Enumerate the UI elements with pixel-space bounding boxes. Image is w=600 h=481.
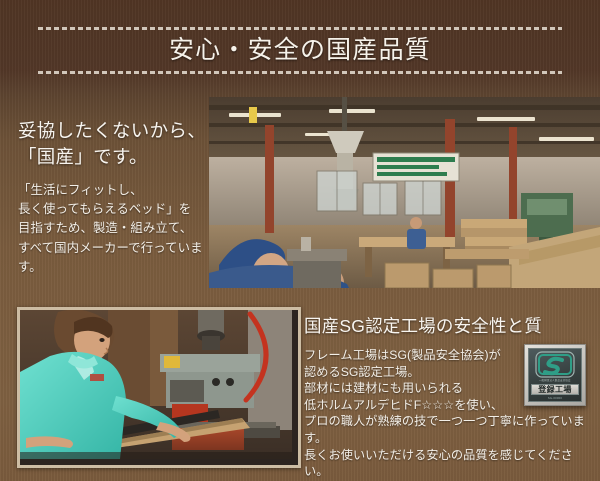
left-heading: 妥協したくないから、 「国産」です。: [18, 118, 214, 169]
left-body-text: 「生活にフィットし、 長く使ってもらえるベッド」を 目指すため、製造・組み立て、…: [18, 181, 214, 277]
left-text-column: 妥協したくないから、 「国産」です。 「生活にフィットし、 長く使ってもらえるベ…: [18, 118, 214, 277]
sg-badge-inner: 一般財団法人製品安全協会 登録工場 SG-00000: [528, 348, 582, 402]
sg-logo-icon: [535, 351, 575, 378]
factory-interior-photo: [209, 97, 600, 288]
dashed-rule-top: [38, 27, 562, 30]
sg-registered-plate: 登録工場: [531, 384, 579, 395]
sg-micro-bottom: SG-00000: [548, 396, 562, 401]
craftsman-working-photo: [17, 307, 301, 468]
page-title: 安心・安全の国産品質: [0, 34, 600, 66]
advert-panel: 安心・安全の国産品質 妥協したくないから、 「国産」です。 「生活にフィットし、…: [0, 0, 600, 481]
header-band: 安心・安全の国産品質: [0, 0, 600, 92]
sg-registered-label: 登録工場: [538, 386, 572, 394]
dashed-rule-bottom: [38, 71, 562, 74]
right-heading: 国産SG認定工場の安全性と質: [304, 314, 592, 338]
sg-micro-top: 一般財団法人製品安全協会: [539, 379, 571, 383]
sg-certification-badge: 一般財団法人製品安全協会 登録工場 SG-00000: [524, 344, 586, 406]
